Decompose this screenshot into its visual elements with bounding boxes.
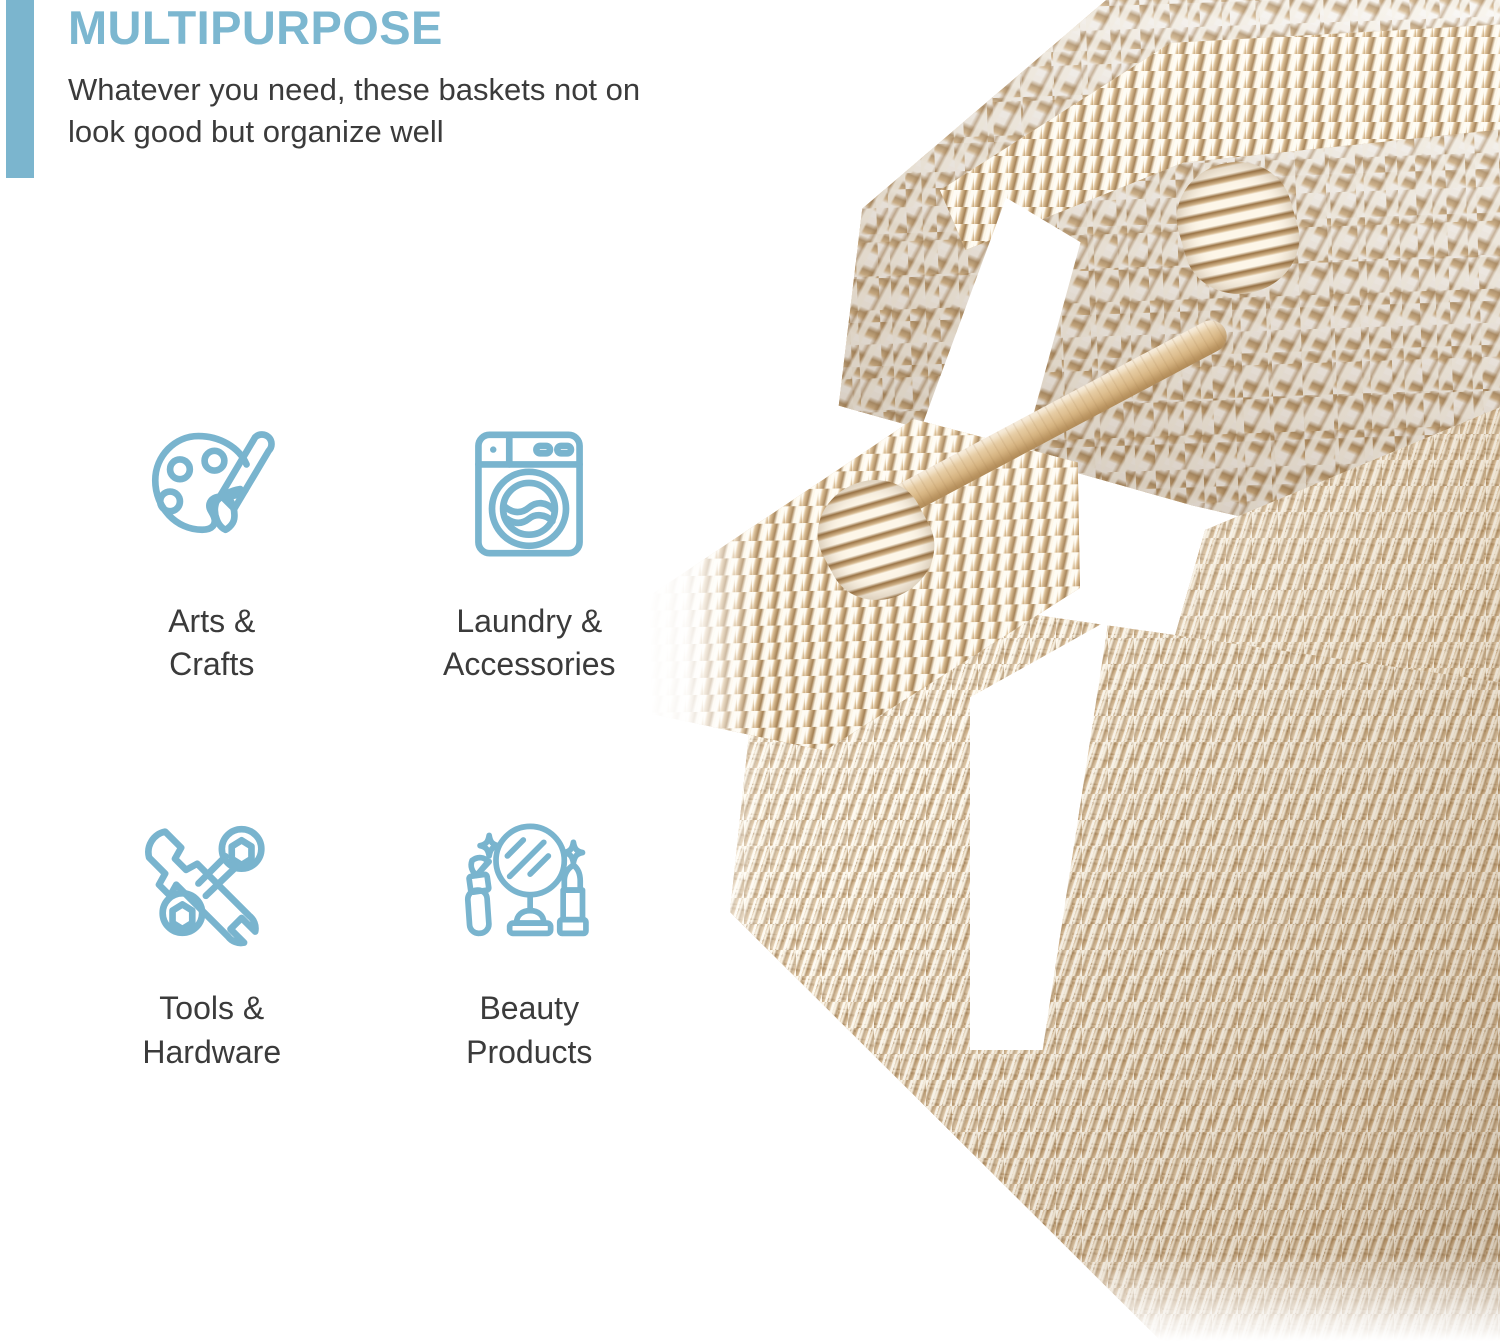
header-text-group: MULTIPURPOSE Whatever you need, these ba… bbox=[68, 2, 698, 154]
product-photo bbox=[640, 0, 1500, 1341]
paint-palette-icon bbox=[138, 414, 286, 574]
infographic-page: MULTIPURPOSE Whatever you need, these ba… bbox=[0, 0, 1500, 1341]
feature-item-laundry-accessories: Laundry & Accessories bbox=[376, 414, 684, 686]
content-pane: MULTIPURPOSE Whatever you need, these ba… bbox=[0, 0, 700, 1341]
crossed-wrenches-icon bbox=[138, 801, 286, 961]
vanity-mirror-makeup-icon bbox=[455, 801, 603, 961]
page-title: MULTIPURPOSE bbox=[68, 2, 698, 55]
feature-item-beauty-products: Beauty Products bbox=[376, 801, 684, 1073]
feature-label: Beauty Products bbox=[466, 987, 592, 1073]
feature-item-arts-crafts: Arts & Crafts bbox=[58, 414, 366, 686]
feature-label: Arts & Crafts bbox=[168, 600, 255, 686]
page-subtitle: Whatever you need, these baskets not onl… bbox=[68, 69, 698, 155]
accent-bar bbox=[6, 0, 34, 178]
woven-seagrass-basket bbox=[640, 0, 1500, 1341]
feature-item-tools-hardware: Tools & Hardware bbox=[58, 801, 366, 1073]
feature-label: Laundry & Accessories bbox=[443, 600, 616, 686]
washing-machine-icon bbox=[455, 414, 603, 574]
feature-label: Tools & Hardware bbox=[142, 987, 281, 1073]
feature-grid: Arts & Crafts bbox=[58, 414, 683, 1074]
